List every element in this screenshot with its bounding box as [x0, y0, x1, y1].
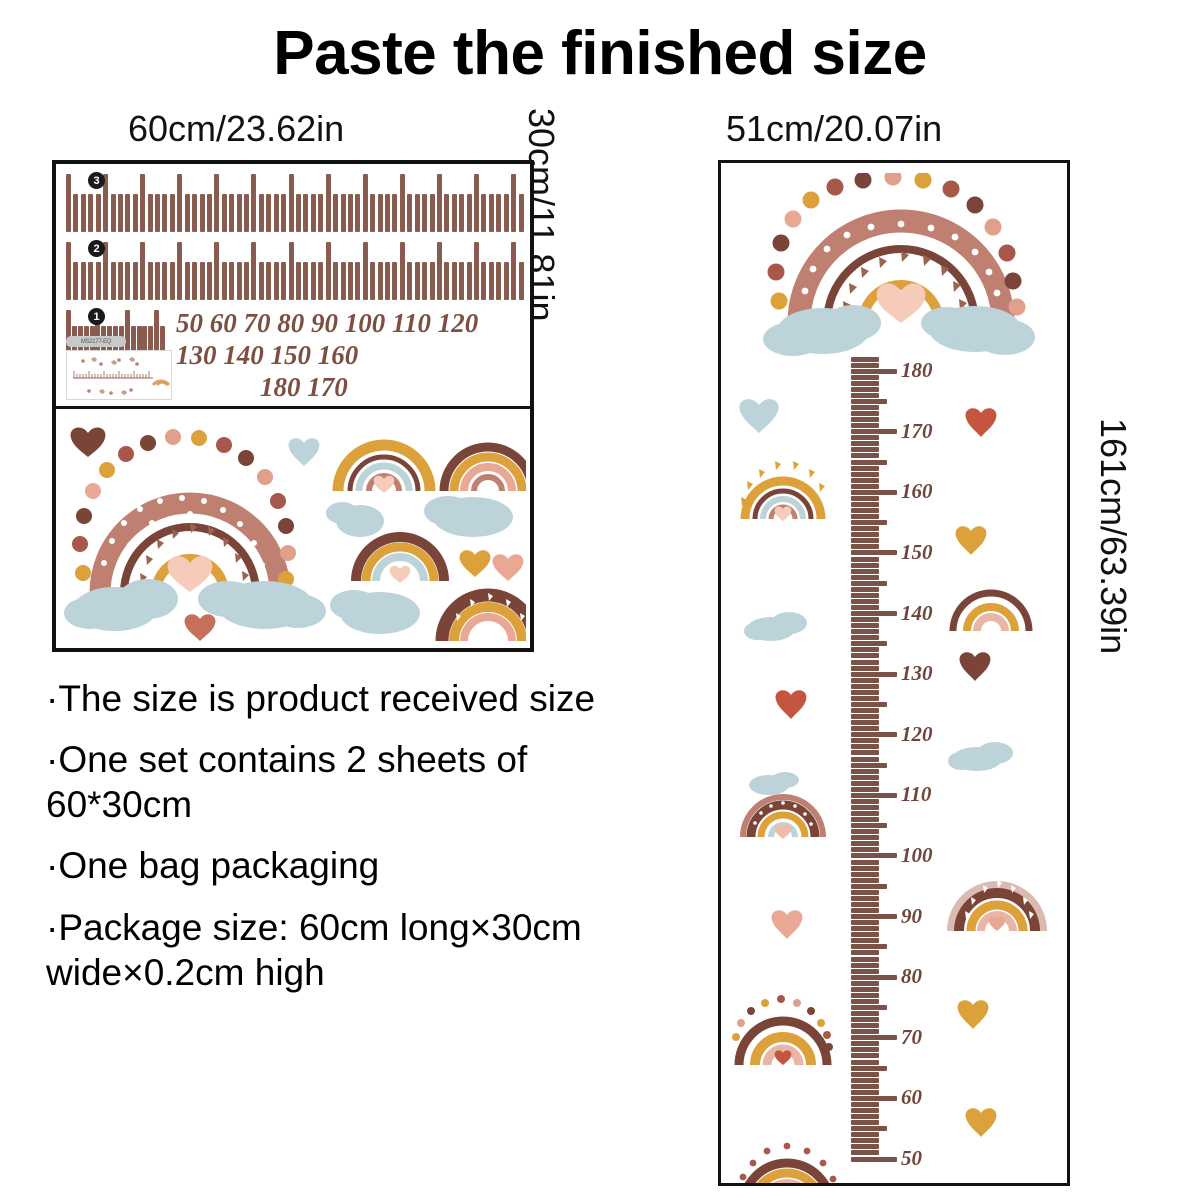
chart-tick-77 — [851, 993, 879, 998]
chart-tick-134 — [851, 647, 879, 652]
ruler-tick — [118, 194, 123, 232]
chart-tick-145 — [851, 581, 887, 586]
chart-tick-121 — [851, 726, 879, 731]
chart-tick-155 — [851, 520, 887, 525]
chart-tick-62 — [851, 1084, 879, 1089]
rainbow-stickers-artwork — [60, 413, 526, 644]
ruler-tick — [214, 174, 219, 232]
sheet-width-label: 60cm/23.62in — [128, 108, 344, 150]
chart-tick-128 — [851, 684, 879, 689]
ruler-tick — [66, 242, 71, 300]
ruler-tick — [133, 262, 138, 300]
chart-tick-127 — [851, 690, 879, 695]
ruler-tick — [496, 194, 501, 232]
chart-tick-169 — [851, 435, 879, 440]
chart-tick-104 — [851, 829, 879, 834]
chart-tick-179 — [851, 375, 879, 380]
sticker-sheet: 32150 60 70 80 90 100 110 120130 140 150… — [52, 160, 534, 652]
chart-tick-162 — [851, 478, 879, 483]
ruler-tick — [326, 242, 331, 300]
rainbow-deco-left-4 — [731, 1133, 841, 1186]
chart-tick-109 — [851, 799, 879, 804]
ruler-tick — [125, 194, 130, 232]
chart-tick-75 — [851, 1005, 887, 1010]
ruler-tick — [407, 194, 412, 232]
ruler-tick — [155, 194, 160, 232]
ruler-tick — [474, 174, 479, 232]
ruler-tick — [355, 262, 360, 300]
chart-tick-95 — [851, 884, 887, 889]
ruler-tick — [348, 194, 353, 232]
ruler-tick — [96, 262, 101, 300]
page-title: Paste the finished size — [0, 18, 1200, 89]
chart-tick-71 — [851, 1029, 879, 1034]
chart-tick-85 — [851, 944, 887, 949]
chart-tick-68 — [851, 1047, 879, 1052]
chart-tick-141 — [851, 605, 879, 610]
chart-tick-139 — [851, 617, 879, 622]
rainbow-deco-right-2 — [943, 853, 1051, 939]
chart-tick-88 — [851, 926, 879, 931]
chart-tick-72 — [851, 1023, 879, 1028]
ruler-tick — [73, 262, 78, 300]
ruler-tick — [162, 194, 167, 232]
chart-tick-126 — [851, 696, 879, 701]
chart-tick-161 — [851, 484, 879, 489]
chart-scale-label-70: 70 — [901, 1025, 922, 1050]
ruler-tick — [200, 194, 205, 232]
bullet-item-1: ·One set contains 2 sheets of 60*30cm — [46, 737, 606, 827]
rainbow-deco-left-1 — [735, 451, 831, 529]
ruler-tick — [511, 242, 516, 300]
chart-tick-98 — [851, 866, 879, 871]
chart-tick-131 — [851, 666, 879, 671]
number-sticker-row-3: 180 170 — [260, 372, 348, 402]
chart-tick-133 — [851, 653, 879, 658]
chart-tick-137 — [851, 629, 879, 634]
chart-tick-81 — [851, 969, 879, 974]
product-details-list: ·The size is product received size ·One … — [46, 676, 606, 1011]
chart-tick-91 — [851, 908, 879, 913]
chart-height-label: 161cm/63.39in — [1092, 418, 1134, 654]
chart-top-rainbow — [751, 173, 1051, 363]
ruler-tick — [415, 262, 420, 300]
chart-tick-125 — [851, 702, 887, 707]
cloud-deco-right-1 — [947, 733, 1021, 775]
ruler-tick — [170, 194, 175, 232]
sheet-top-content: 32150 60 70 80 90 100 110 120130 140 150… — [60, 168, 526, 402]
heart-blue-left — [729, 391, 789, 439]
bullet-item-2: ·One bag packaging — [46, 843, 606, 888]
ruler-tick — [400, 242, 405, 300]
ruler-tick — [140, 174, 145, 232]
chart-tick-92 — [851, 902, 879, 907]
ruler-tick — [177, 174, 182, 232]
ruler-tick — [392, 194, 397, 232]
ruler-tick — [363, 174, 368, 232]
chart-tick-140 — [851, 611, 897, 616]
rainbow-deco-left-2 — [733, 763, 833, 847]
chart-tick-172 — [851, 417, 879, 422]
ruler-tick — [430, 262, 435, 300]
ruler-tick — [274, 194, 279, 232]
ruler-tick — [281, 194, 286, 232]
ruler-tick — [496, 262, 501, 300]
ruler-tick — [266, 262, 271, 300]
chart-tick-93 — [851, 896, 879, 901]
bullet-item-0: ·The size is product received size — [46, 676, 606, 721]
chart-tick-166 — [851, 453, 879, 458]
chart-scale-label-180: 180 — [901, 358, 933, 383]
ruler-tick — [185, 262, 190, 300]
ruler-tick — [400, 174, 405, 232]
infographic-page: Paste the finished size 60cm/23.62in 30c… — [0, 0, 1200, 1200]
chart-tick-177 — [851, 387, 879, 392]
ruler-tick — [296, 194, 301, 232]
ruler-tick — [274, 262, 279, 300]
sheet-bottom-content — [60, 413, 526, 644]
chart-tick-165 — [851, 460, 887, 465]
chart-tick-82 — [851, 963, 879, 968]
chart-tick-54 — [851, 1132, 879, 1137]
ruler-tick — [459, 194, 464, 232]
ruler-tick — [303, 194, 308, 232]
heart-rust-left — [769, 683, 813, 727]
ruler-tick — [489, 194, 494, 232]
chart-tick-96 — [851, 878, 879, 883]
chart-tick-105 — [851, 823, 887, 828]
chart-tick-136 — [851, 635, 879, 640]
ruler-tick — [237, 262, 242, 300]
ruler-tick — [385, 194, 390, 232]
ruler-tick — [118, 262, 123, 300]
ruler-tick — [237, 194, 242, 232]
ruler-tick — [281, 262, 286, 300]
chart-tick-65 — [851, 1066, 887, 1071]
ruler-tick — [378, 262, 383, 300]
chart-tick-144 — [851, 587, 879, 592]
chart-tick-160 — [851, 490, 897, 495]
chart-scale-label-100: 100 — [901, 843, 933, 868]
ruler-tick — [333, 262, 338, 300]
chart-tick-94 — [851, 890, 879, 895]
chart-tick-143 — [851, 593, 879, 598]
ruler-tick — [311, 194, 316, 232]
ruler-tick — [81, 262, 86, 300]
chart-tick-118 — [851, 744, 879, 749]
ruler-tick — [481, 262, 486, 300]
ruler-tick — [259, 194, 264, 232]
ruler-tick — [177, 242, 182, 300]
chart-tick-124 — [851, 708, 879, 713]
chart-tick-102 — [851, 841, 879, 846]
chart-tick-135 — [851, 641, 887, 646]
chart-scale-label-140: 140 — [901, 601, 933, 626]
chart-scale-label-120: 120 — [901, 722, 933, 747]
chart-tick-122 — [851, 720, 879, 725]
ruler-tick — [415, 194, 420, 232]
ruler-tick — [81, 194, 86, 232]
ruler-tick — [519, 194, 524, 232]
ruler-tick — [341, 262, 346, 300]
ruler-tick — [222, 194, 227, 232]
cloud-deco-left-1 — [743, 603, 813, 643]
ruler-tick — [467, 262, 472, 300]
chart-tick-171 — [851, 423, 879, 428]
ruler-tick — [192, 194, 197, 232]
chart-tick-152 — [851, 538, 879, 543]
chart-tick-157 — [851, 508, 879, 513]
ruler-tick — [251, 242, 256, 300]
ruler-tick — [326, 174, 331, 232]
chart-tick-170 — [851, 429, 897, 434]
heart-mustard-right-3 — [959, 1101, 1003, 1145]
chart-tick-158 — [851, 502, 879, 507]
chart-tick-113 — [851, 775, 879, 780]
chart-tick-63 — [851, 1078, 879, 1083]
chart-tick-101 — [851, 847, 879, 852]
chart-tick-178 — [851, 381, 879, 386]
ruler-tick — [162, 262, 167, 300]
chart-tick-60 — [851, 1096, 897, 1101]
chart-width-label: 51cm/20.07in — [726, 108, 942, 150]
chart-tick-114 — [851, 769, 879, 774]
chart-tick-116 — [851, 757, 879, 762]
chart-scale-label-90: 90 — [901, 904, 922, 929]
product-code-label: MS2177-EQ — [66, 336, 126, 347]
chart-tick-78 — [851, 987, 879, 992]
chart-tick-175 — [851, 399, 887, 404]
ruler-tick — [318, 194, 323, 232]
chart-tick-173 — [851, 411, 879, 416]
chart-tick-58 — [851, 1108, 879, 1113]
ruler-strip-1: 3 — [66, 174, 526, 232]
ruler-tick — [341, 194, 346, 232]
chart-tick-154 — [851, 526, 879, 531]
small-rainbow-sticker-1 — [338, 445, 430, 493]
ruler-tick — [266, 194, 271, 232]
small-rainbow-sticker-3 — [356, 537, 444, 583]
chart-tick-150 — [851, 550, 897, 555]
chart-tick-146 — [851, 575, 879, 580]
chart-tick-111 — [851, 787, 879, 792]
rainbow-deco-left-3 — [729, 989, 837, 1073]
ruler-tick — [111, 194, 116, 232]
chart-tick-83 — [851, 957, 879, 962]
ruler-tick — [229, 194, 234, 232]
bullet-item-3: ·Package size: 60cm long×30cm wide×0.2cm… — [46, 905, 606, 995]
ruler-tick — [289, 242, 294, 300]
chart-tick-132 — [851, 660, 879, 665]
ruler-tick — [378, 194, 383, 232]
chart-tick-76 — [851, 999, 879, 1004]
chart-tick-167 — [851, 447, 879, 452]
ruler-tick — [251, 174, 256, 232]
heart-mustard-right-1 — [949, 519, 993, 563]
ruler-tick — [504, 194, 509, 232]
chart-tick-174 — [851, 405, 879, 410]
rainbow-deco-right-1 — [945, 575, 1037, 637]
ruler-tick — [333, 194, 338, 232]
ruler-tick — [489, 262, 494, 300]
chart-tick-182 — [851, 357, 879, 362]
chart-tick-66 — [851, 1060, 879, 1065]
chart-tick-156 — [851, 514, 879, 519]
ruler-tick — [504, 262, 509, 300]
chart-scale-label-170: 170 — [901, 419, 933, 444]
ruler-tick — [125, 262, 130, 300]
chart-tick-70 — [851, 1035, 897, 1040]
ruler-tick — [467, 194, 472, 232]
strip-badge-3: 3 — [88, 172, 105, 189]
chart-tick-151 — [851, 544, 879, 549]
ruler-tick — [111, 262, 116, 300]
strip-badge-1: 1 — [88, 308, 105, 325]
ruler-tick — [214, 242, 219, 300]
ruler-tick — [88, 262, 93, 300]
ruler-tick — [385, 262, 390, 300]
chart-tick-64 — [851, 1072, 879, 1077]
ruler-tick — [207, 194, 212, 232]
chart-tick-55 — [851, 1126, 887, 1131]
ruler-tick — [370, 262, 375, 300]
chart-tick-73 — [851, 1017, 879, 1022]
chart-scale-label-150: 150 — [901, 540, 933, 565]
chart-tick-87 — [851, 932, 879, 937]
ruler-tick — [148, 194, 153, 232]
ruler-tick — [244, 262, 249, 300]
heart-brown-right — [953, 645, 997, 689]
ruler-tick — [348, 262, 353, 300]
chart-tick-119 — [851, 738, 879, 743]
chart-tick-112 — [851, 781, 879, 786]
chart-tick-61 — [851, 1090, 879, 1095]
chart-tick-80 — [851, 975, 897, 980]
ruler-tick — [200, 262, 205, 300]
height-ruler: 1801701601501401301201101009080706050 — [851, 359, 909, 1159]
number-sticker-row-1: 50 60 70 80 90 100 110 120 — [176, 308, 478, 339]
chart-tick-164 — [851, 466, 879, 471]
chart-scale-label-160: 160 — [901, 479, 933, 504]
ruler-tick — [96, 194, 101, 232]
ruler-tick — [244, 194, 249, 232]
chart-tick-123 — [851, 714, 879, 719]
ruler-tick — [192, 262, 197, 300]
growth-chart-panel: 1801701601501401301201101009080706050 — [718, 160, 1070, 1186]
chart-tick-53 — [851, 1138, 879, 1143]
ruler-tick — [88, 194, 93, 232]
ruler-tick — [296, 262, 301, 300]
chart-tick-117 — [851, 750, 879, 755]
ruler-tick — [185, 194, 190, 232]
heart-blush-left — [765, 903, 809, 947]
small-rainbow-sticker-4 — [442, 593, 526, 641]
sticker-sheet-bottom-half — [56, 409, 530, 648]
ruler-tick — [370, 194, 375, 232]
ruler-tick — [430, 194, 435, 232]
chart-tick-103 — [851, 835, 879, 840]
chart-tick-99 — [851, 860, 879, 865]
chart-tick-90 — [851, 914, 897, 919]
ruler-tick — [140, 242, 145, 300]
ruler-tick — [73, 194, 78, 232]
ruler-tick — [363, 242, 368, 300]
ruler-tick — [444, 194, 449, 232]
ruler-tick — [66, 174, 71, 232]
chart-tick-79 — [851, 981, 879, 986]
chart-tick-153 — [851, 532, 879, 537]
number-sticker-row-2: 130 140 150 160 — [176, 340, 358, 371]
chart-tick-176 — [851, 393, 879, 398]
chart-tick-108 — [851, 805, 879, 810]
ruler-tick — [444, 262, 449, 300]
chart-tick-129 — [851, 678, 879, 683]
ruler-tick — [437, 242, 442, 300]
ruler-tick — [452, 262, 457, 300]
ruler-tick — [459, 262, 464, 300]
strip-badge-2: 2 — [88, 240, 105, 257]
ruler-tick — [519, 262, 524, 300]
ruler-tick — [229, 262, 234, 300]
ruler-tick — [407, 262, 412, 300]
chart-tick-52 — [851, 1144, 879, 1149]
ruler-tick — [511, 174, 516, 232]
chart-tick-159 — [851, 496, 879, 501]
ruler-tick — [392, 262, 397, 300]
ruler-strip-2: 2 — [66, 242, 526, 300]
chart-tick-59 — [851, 1102, 879, 1107]
chart-tick-148 — [851, 563, 879, 568]
chart-tick-56 — [851, 1120, 879, 1125]
chart-tick-180 — [851, 369, 897, 374]
ruler-tick — [259, 262, 264, 300]
ruler-tick — [207, 262, 212, 300]
ruler-tick — [170, 262, 175, 300]
ruler-tick — [355, 194, 360, 232]
mini-preview-thumbnail — [66, 350, 172, 400]
ruler-tick — [422, 262, 427, 300]
ruler-tick — [222, 262, 227, 300]
chart-tick-100 — [851, 853, 897, 858]
ruler-tick — [474, 242, 479, 300]
ruler-tick — [133, 194, 138, 232]
ruler-tick — [303, 262, 308, 300]
chart-tick-86 — [851, 938, 879, 943]
chart-tick-163 — [851, 472, 879, 477]
chart-tick-115 — [851, 763, 887, 768]
chart-scale-label-130: 130 — [901, 661, 933, 686]
ruler-tick — [437, 174, 442, 232]
chart-scale-label-80: 80 — [901, 964, 922, 989]
chart-tick-138 — [851, 623, 879, 628]
chart-tick-110 — [851, 793, 897, 798]
chart-tick-97 — [851, 872, 879, 877]
ruler-tick — [311, 262, 316, 300]
chart-tick-130 — [851, 672, 897, 677]
chart-tick-181 — [851, 363, 879, 368]
chart-tick-142 — [851, 599, 879, 604]
chart-tick-107 — [851, 811, 879, 816]
sticker-sheet-top-half: 32150 60 70 80 90 100 110 120130 140 150… — [56, 164, 530, 409]
chart-tick-50 — [851, 1157, 897, 1162]
chart-tick-57 — [851, 1114, 879, 1119]
ruler-tick — [481, 194, 486, 232]
chart-tick-120 — [851, 732, 897, 737]
small-rainbow-sticker-2 — [444, 447, 526, 491]
chart-tick-69 — [851, 1041, 879, 1046]
chart-tick-51 — [851, 1150, 879, 1155]
chart-tick-84 — [851, 950, 879, 955]
